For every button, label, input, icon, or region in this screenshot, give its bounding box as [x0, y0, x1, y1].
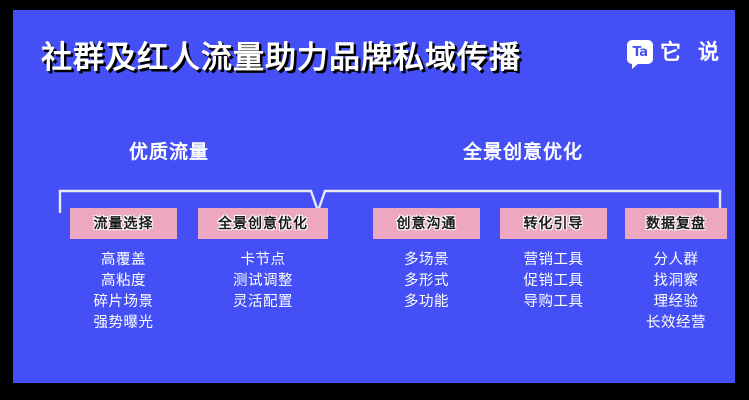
group-heading-traffic: 优质流量	[129, 137, 209, 164]
list-item: 高覆盖	[70, 250, 177, 271]
list-item: 强势曝光	[70, 313, 177, 334]
list-item: 灵活配置	[198, 292, 328, 313]
column-panoramic-creative: 全景创意优化 卡节点 测试调整 灵活配置	[198, 208, 328, 313]
brand-char-shuo: 说	[698, 42, 719, 63]
brand-logo: Ta 它 说	[627, 36, 719, 68]
column-traffic-selection: 流量选择 高覆盖 高粘度 碎片场景 强势曝光	[70, 208, 177, 334]
list-item: 长效经营	[625, 313, 727, 334]
page-title: 社群及红人流量助力品牌私域传播	[41, 32, 521, 77]
column-item-list: 卡节点 测试调整 灵活配置	[198, 250, 328, 313]
slide-root: 社群及红人流量助力品牌私域传播 Ta 它 说 优质流量 全景创意优化 流量选择 …	[0, 0, 749, 400]
column-header-box[interactable]: 转化引导	[500, 208, 607, 239]
list-item: 碎片场景	[70, 292, 177, 313]
speech-bubble-icon: Ta	[627, 40, 653, 64]
column-creative-communication: 创意沟通 多场景 多形式 多功能	[373, 208, 480, 313]
column-header-box[interactable]: 全景创意优化	[198, 208, 328, 239]
list-item: 营销工具	[500, 250, 607, 271]
list-item: 多形式	[373, 271, 480, 292]
list-item: 分人群	[625, 250, 727, 271]
list-item: 找洞察	[625, 271, 727, 292]
list-item: 高粘度	[70, 271, 177, 292]
speech-bubble-label: Ta	[633, 46, 648, 59]
column-header-box[interactable]: 流量选择	[70, 208, 177, 239]
slide-header: 社群及红人流量助力品牌私域传播 Ta 它 说	[13, 10, 735, 88]
column-grid: 流量选择 高覆盖 高粘度 碎片场景 强势曝光 全景创意优化 卡节点 测试调整 灵…	[13, 208, 735, 368]
list-item: 理经验	[625, 292, 727, 313]
column-header-box[interactable]: 数据复盘	[625, 208, 727, 239]
column-item-list: 高覆盖 高粘度 碎片场景 强势曝光	[70, 250, 177, 334]
list-item: 导购工具	[500, 292, 607, 313]
column-conversion-guidance: 转化引导 营销工具 促销工具 导购工具	[500, 208, 607, 313]
list-item: 促销工具	[500, 271, 607, 292]
list-item: 测试调整	[198, 271, 328, 292]
brand-char-ta: 它	[660, 42, 681, 63]
slide-canvas: 社群及红人流量助力品牌私域传播 Ta 它 说 优质流量 全景创意优化 流量选择 …	[13, 10, 735, 383]
list-item: 多功能	[373, 292, 480, 313]
group-heading-creative: 全景创意优化	[463, 137, 583, 164]
column-item-list: 分人群 找洞察 理经验 长效经营	[625, 250, 727, 334]
column-header-box[interactable]: 创意沟通	[373, 208, 480, 239]
column-item-list: 营销工具 促销工具 导购工具	[500, 250, 607, 313]
column-item-list: 多场景 多形式 多功能	[373, 250, 480, 313]
list-item: 卡节点	[198, 250, 328, 271]
column-data-review: 数据复盘 分人群 找洞察 理经验 长效经营	[625, 208, 727, 334]
list-item: 多场景	[373, 250, 480, 271]
